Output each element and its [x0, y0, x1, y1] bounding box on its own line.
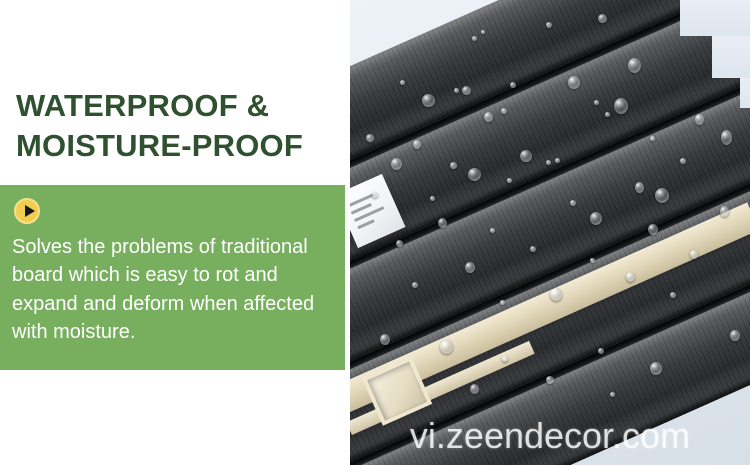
water-droplet — [546, 22, 552, 28]
play-triangle-icon — [14, 198, 40, 224]
water-droplet — [546, 160, 551, 165]
page-title: WATERPROOF & MOISTURE-PROOF — [16, 86, 416, 165]
water-droplet — [568, 76, 580, 89]
water-droplet — [440, 340, 453, 354]
water-droplet — [470, 384, 479, 394]
water-droplet — [510, 82, 516, 88]
photo-scene — [350, 0, 750, 465]
water-droplet — [590, 212, 602, 225]
water-droplet — [490, 228, 495, 233]
water-droplet — [396, 240, 403, 247]
water-droplet — [690, 250, 698, 259]
water-droplet — [372, 192, 378, 198]
water-droplet — [695, 114, 704, 125]
water-droplet — [721, 130, 732, 145]
water-droplet — [462, 86, 471, 95]
water-droplet — [598, 14, 607, 23]
water-droplet — [555, 158, 560, 163]
feature-description: Solves the problems of traditional board… — [12, 233, 342, 347]
water-droplet — [465, 262, 475, 273]
water-droplet — [648, 224, 658, 235]
water-droplet — [472, 36, 477, 41]
water-droplet — [590, 258, 595, 263]
water-droplet — [670, 292, 676, 298]
water-droplet — [594, 100, 599, 105]
water-droplet — [530, 246, 536, 252]
water-droplet — [520, 150, 532, 162]
water-droplet — [626, 272, 635, 282]
water-droplet — [412, 282, 418, 288]
panel-step-cut — [740, 78, 750, 108]
copy-column: WATERPROOF & MOISTURE-PROOF Solves the p… — [0, 0, 350, 465]
label-line — [357, 219, 375, 229]
water-droplet — [655, 188, 669, 203]
water-droplet — [400, 80, 405, 85]
water-droplet — [468, 168, 481, 181]
water-droplet — [450, 162, 457, 169]
play-triangle-glyph — [25, 205, 35, 217]
promo-banner: vi.zeendecor.com WATERPROOF & MOISTURE-P… — [0, 0, 750, 465]
water-droplet — [614, 98, 628, 114]
water-droplet — [422, 94, 435, 107]
panel-step-cut — [680, 0, 750, 36]
water-droplet — [501, 108, 507, 114]
water-droplet — [650, 362, 662, 375]
panel-step-cut — [712, 36, 750, 78]
water-droplet — [481, 30, 485, 34]
water-droplet — [484, 112, 493, 122]
water-droplet — [502, 356, 508, 362]
water-droplet — [438, 218, 447, 228]
product-photo: vi.zeendecor.com — [350, 0, 750, 465]
water-droplet — [550, 288, 562, 301]
water-droplet — [430, 196, 435, 201]
headline-line-1: WATERPROOF & — [16, 86, 416, 126]
water-droplet — [598, 348, 604, 354]
water-droplet — [546, 376, 554, 384]
water-droplet — [720, 206, 729, 217]
water-droplet — [605, 112, 610, 117]
water-droplet — [507, 178, 512, 183]
water-droplet — [380, 334, 390, 345]
water-droplet — [635, 182, 644, 193]
water-droplet — [454, 88, 459, 93]
water-droplet — [570, 200, 576, 206]
water-droplet — [500, 300, 505, 305]
water-droplet — [628, 58, 641, 73]
water-droplet — [610, 392, 615, 397]
headline-line-2: MOISTURE-PROOF — [16, 126, 416, 166]
water-droplet — [730, 330, 740, 341]
water-droplet — [680, 158, 686, 164]
water-droplet — [650, 136, 655, 141]
feature-card: Solves the problems of traditional board… — [0, 185, 345, 370]
